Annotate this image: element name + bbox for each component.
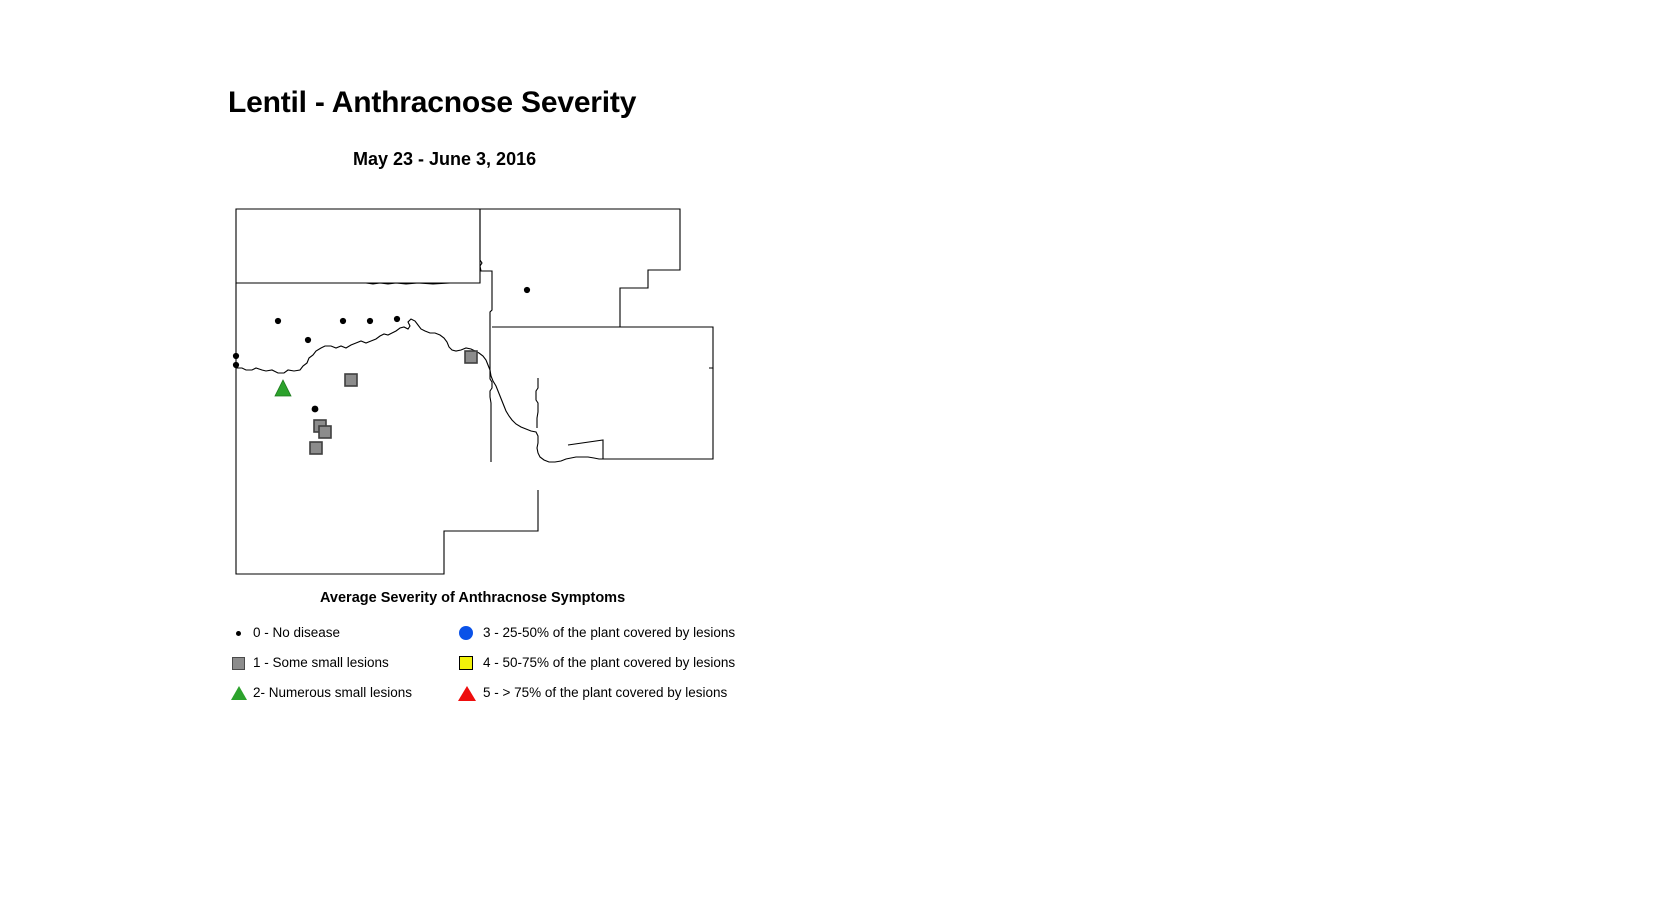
marker-severity-1[interactable] [310,442,322,454]
marker-severity-1[interactable] [319,426,331,438]
marker-severity-0[interactable] [312,406,319,413]
map-legend: Average Severity of Anthracnose Symptoms… [228,588,748,703]
green-triangle-icon [228,682,250,704]
marker-severity-0[interactable] [233,362,239,368]
marker-severity-0[interactable] [305,337,311,343]
legend-item-label: 5 - > 75% of the plant covered by lesion… [483,686,727,700]
legend-item-label: 4 - 50-75% of the plant covered by lesio… [483,656,735,670]
marker-severity-2[interactable] [275,380,291,396]
southeast-block-outline [568,368,713,459]
marker-severity-0[interactable] [275,318,281,324]
marker-severity-0[interactable] [394,316,400,322]
marker-severity-0[interactable] [367,318,373,324]
marker-severity-0[interactable] [340,318,346,324]
legend-item-severity-3[interactable]: 3 - 25-50% of the plant covered by lesio… [456,618,746,648]
north-central-divider [480,209,492,462]
page-subtitle: May 23 - June 3, 2016 [353,150,536,168]
page-title: Lentil - Anthracnose Severity [228,88,636,118]
gray-square-icon [228,652,250,674]
marker-severity-1[interactable] [465,351,477,363]
river-boundary [236,319,603,462]
legend-item-label: 1 - Some small lesions [253,656,389,670]
central-county-divider [536,378,538,428]
blue-circle-icon [456,622,478,644]
small-black-dot-icon [228,622,250,644]
marker-severity-1[interactable] [345,374,357,386]
legend-column-left: 0 - No disease 1 - Some small lesions 2-… [228,618,468,708]
map-container [228,200,728,590]
legend-title: Average Severity of Anthracnose Symptoms [320,591,625,606]
legend-item-severity-2[interactable]: 2- Numerous small lesions [228,678,468,708]
northwest-block-outline [236,209,480,283]
legend-column-right: 3 - 25-50% of the plant covered by lesio… [456,618,746,708]
legend-item-label: 0 - No disease [253,626,340,640]
poster-root: Lentil - Anthracnose Severity May 23 - J… [0,0,1673,900]
legend-item-label: 2- Numerous small lesions [253,686,412,700]
legend-item-severity-1[interactable]: 1 - Some small lesions [228,648,468,678]
map-boundaries [236,209,713,574]
northeast-block-outline [480,209,713,368]
marker-severity-0[interactable] [524,287,530,293]
county-map [228,200,728,590]
legend-item-severity-5[interactable]: 5 - > 75% of the plant covered by lesion… [456,678,746,708]
map-markers [233,287,530,454]
marker-severity-0[interactable] [233,353,239,359]
legend-item-severity-4[interactable]: 4 - 50-75% of the plant covered by lesio… [456,648,746,678]
legend-item-severity-0[interactable]: 0 - No disease [228,618,468,648]
red-triangle-icon [456,682,478,704]
yellow-square-icon [456,652,478,674]
west-county-line [236,283,480,284]
legend-item-label: 3 - 25-50% of the plant covered by lesio… [483,626,735,640]
